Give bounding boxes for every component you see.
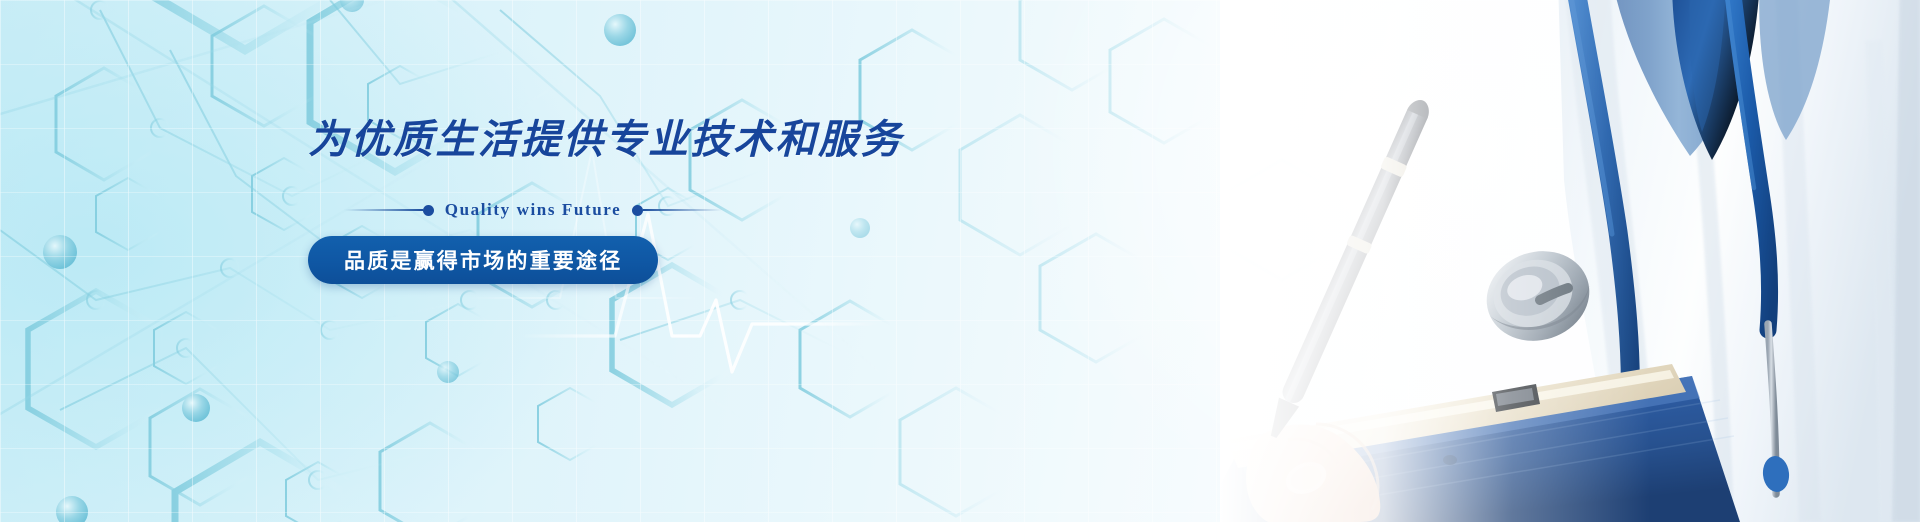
divider-dot-right <box>632 205 643 216</box>
doctor-coat <box>1558 0 1920 522</box>
slogan-pill-button[interactable]: 品质是赢得市场的重要途径 <box>308 236 658 284</box>
tagline-divider: Quality wins Future <box>344 200 722 220</box>
stethoscope-chestpiece <box>1475 238 1601 354</box>
stethoscope <box>1475 0 1791 516</box>
divider-rule-left <box>344 209 423 211</box>
pen <box>1263 96 1435 442</box>
doctor-hand <box>1246 424 1380 522</box>
clipboard <box>1220 364 1740 522</box>
banner-headline: 为优质生活提供专业技术和服务 <box>308 118 1208 162</box>
doctor-shirt <box>1612 0 1832 156</box>
divider-rule-right <box>643 209 722 211</box>
medical-banner: 为优质生活提供专业技术和服务 Quality wins Future 品质是赢得… <box>0 0 1920 522</box>
divider-dot-left <box>423 205 434 216</box>
english-tagline: Quality wins Future <box>434 200 633 220</box>
doctor-necktie <box>1672 0 1760 160</box>
doctor-photo <box>1220 0 1920 522</box>
banner-content: 为优质生活提供专业技术和服务 Quality wins Future 品质是赢得… <box>308 118 1208 284</box>
